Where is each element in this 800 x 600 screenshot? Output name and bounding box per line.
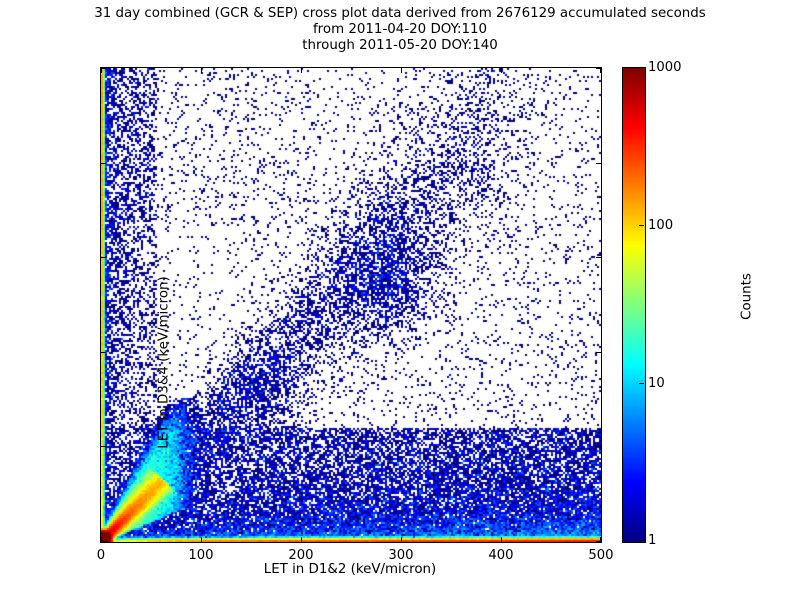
- x-tick-label-100: 100: [171, 549, 231, 562]
- title-line-1: 31 day combined (GCR & SEP) cross plot d…: [0, 6, 800, 22]
- title-line-2: from 2011-04-20 DOY:110: [0, 22, 800, 38]
- x-tick-300: [401, 537, 402, 542]
- colorbar-tick-1000: [639, 67, 644, 68]
- x-tick-top-0: [101, 68, 102, 73]
- colorbar-label-1: 1: [648, 534, 656, 547]
- y-tick-200: [101, 352, 106, 353]
- colorbar: 1000 100 10 1: [622, 67, 644, 541]
- x-tick-top-400: [501, 68, 502, 73]
- figure-canvas: 31 day combined (GCR & SEP) cross plot d…: [0, 0, 800, 600]
- colorbar-tick-1: [639, 540, 644, 541]
- x-tick-top-200: [301, 68, 302, 73]
- x-tick-label-300: 300: [371, 549, 431, 562]
- x-tick-100: [201, 537, 202, 542]
- y-tick-300: [101, 257, 106, 258]
- x-tick-label-0: 0: [71, 549, 131, 562]
- x-tick-top-100: [201, 68, 202, 73]
- y-tick-right-300: [596, 257, 601, 258]
- x-tick-500: [600, 537, 601, 542]
- y-tick-right-400: [596, 163, 601, 164]
- x-tick-0: [101, 537, 102, 542]
- chart-title: 31 day combined (GCR & SEP) cross plot d…: [0, 6, 800, 53]
- y-tick-100: [101, 446, 106, 447]
- x-tick-label-400: 400: [471, 549, 531, 562]
- x-tick-top-500: [600, 68, 601, 73]
- colorbar-gradient: [622, 67, 646, 543]
- y-tick-400: [101, 163, 106, 164]
- x-tick-label-200: 200: [271, 549, 331, 562]
- x-tick-top-300: [401, 68, 402, 73]
- x-axis-title: LET in D1&2 (keV/micron): [100, 562, 600, 577]
- x-tick-200: [301, 537, 302, 542]
- colorbar-title: Counts: [740, 147, 755, 447]
- colorbar-label-100: 100: [648, 219, 673, 232]
- colorbar-label-10: 10: [648, 377, 665, 390]
- plot-area: 0 100 200 300 400 500 0 100 200 300 400 …: [100, 67, 602, 543]
- y-tick-right-200: [596, 352, 601, 353]
- y-tick-right-100: [596, 446, 601, 447]
- colorbar-tick-100: [639, 225, 644, 226]
- colorbar-label-1000: 1000: [648, 61, 682, 74]
- x-tick-400: [501, 537, 502, 542]
- y-axis-title: LET in D3&4 (keV/micron): [157, 163, 172, 563]
- x-tick-label-500: 500: [571, 549, 631, 562]
- colorbar-tick-10: [639, 383, 644, 384]
- title-line-3: through 2011-05-20 DOY:140: [0, 38, 800, 54]
- density-scatter-canvas: [101, 68, 601, 542]
